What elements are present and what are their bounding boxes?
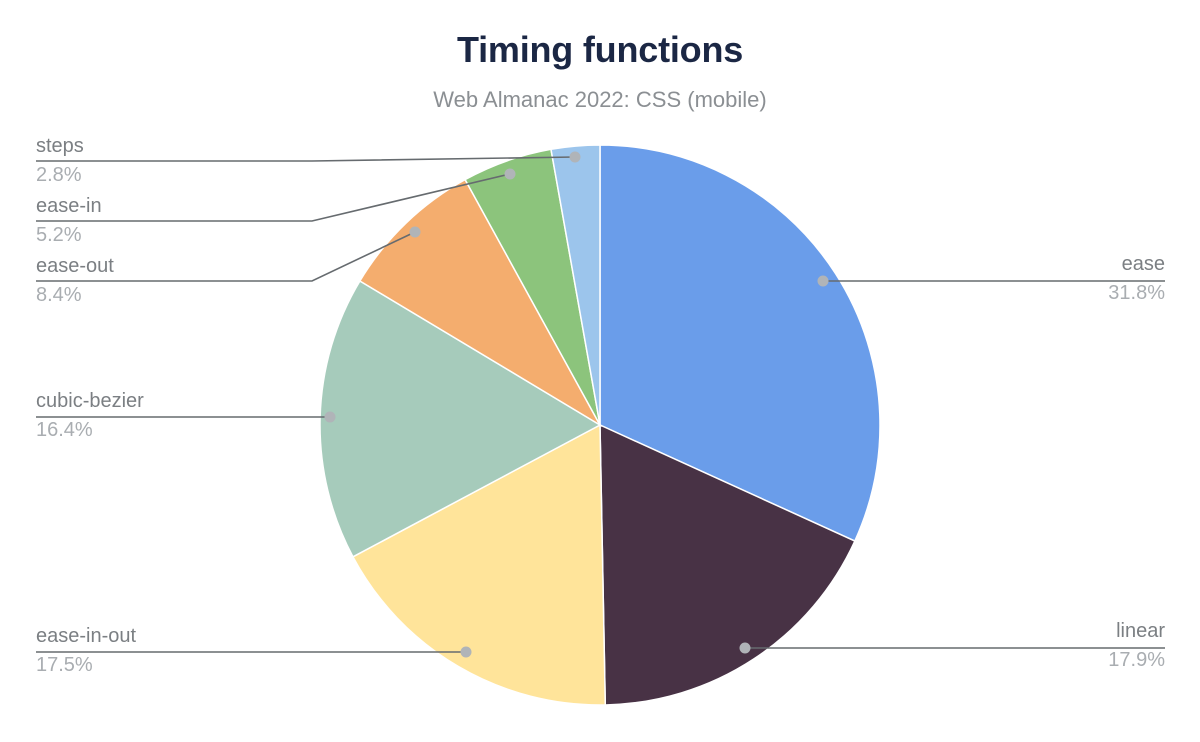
slice-label-cubic-bezier[interactable]: cubic-bezier16.4% (36, 387, 144, 445)
slice-label-steps[interactable]: steps2.8% (36, 132, 84, 190)
leader-dot-ease (818, 276, 829, 287)
slice-label-name: cubic-bezier (36, 387, 144, 416)
leader-line-steps (36, 157, 575, 161)
slice-label-linear[interactable]: linear17.9% (1108, 617, 1165, 675)
pie-slices (320, 145, 880, 705)
slice-label-ease[interactable]: ease31.8% (1108, 250, 1165, 308)
slice-label-ease-out[interactable]: ease-out8.4% (36, 252, 114, 310)
leader-dot-ease-out (410, 227, 421, 238)
slice-label-name: ease-in-out (36, 622, 136, 651)
pie-chart-figure: Timing functions Web Almanac 2022: CSS (… (0, 0, 1200, 742)
slice-label-name: ease (1108, 250, 1165, 279)
slice-label-value: 17.9% (1108, 646, 1165, 675)
slice-label-name: ease-out (36, 252, 114, 281)
slice-label-name: linear (1108, 617, 1165, 646)
leader-dot-steps (570, 152, 581, 163)
slice-label-ease-in-out[interactable]: ease-in-out17.5% (36, 622, 136, 680)
leader-dot-cubic-bezier (325, 412, 336, 423)
slice-label-name: ease-in (36, 192, 102, 221)
pie-plot-area (0, 0, 1200, 742)
slice-label-value: 2.8% (36, 161, 84, 190)
slice-label-value: 17.5% (36, 651, 136, 680)
slice-label-value: 5.2% (36, 221, 102, 250)
slice-label-name: steps (36, 132, 84, 161)
slice-label-value: 16.4% (36, 416, 144, 445)
slice-label-ease-in[interactable]: ease-in5.2% (36, 192, 102, 250)
leader-dot-ease-in (505, 169, 516, 180)
slice-label-value: 8.4% (36, 281, 114, 310)
slice-label-value: 31.8% (1108, 279, 1165, 308)
leader-dot-ease-in-out (461, 647, 472, 658)
leader-dot-linear (740, 643, 751, 654)
